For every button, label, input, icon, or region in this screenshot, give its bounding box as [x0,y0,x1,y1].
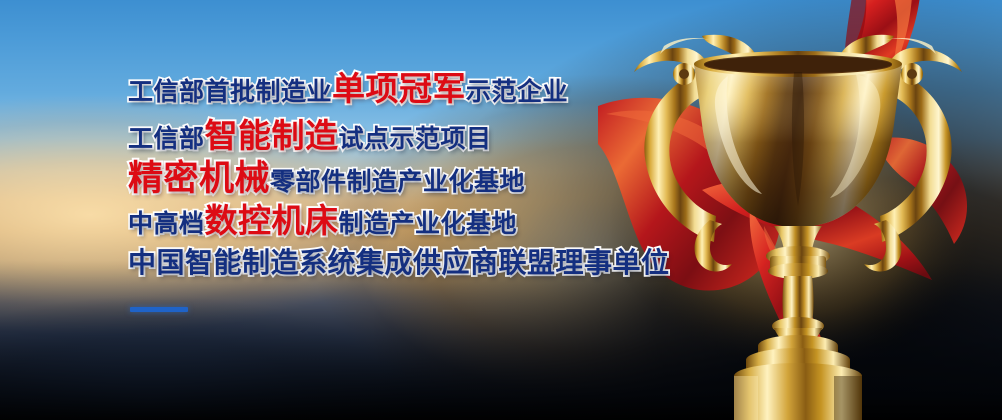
headline-line-2: 工信部智能制造试点示范项目 [128,119,768,152]
headline-3-segment-2: 零部件制造产业化基地 [270,170,525,195]
headline-4-segment-3: 制造产业化基地 [339,212,518,237]
headline-line-5: 中国智能制造系统集成供应商联盟理事单位 [128,249,768,277]
headline-4-segment-2: 数控机床 [205,204,339,237]
headline-line-1: 工信部首批制造业单项冠军示范企业 [128,72,768,105]
headline-2-segment-1: 工信部 [128,127,205,152]
blue-underline-accent [130,307,188,312]
headline-2-segment-3: 试点示范项目 [339,127,492,152]
headline-group: 工信部首批制造业单项冠军示范企业 工信部智能制造试点示范项目 精密机械零部件制造… [128,72,768,277]
headline-2-segment-2: 智能制造 [205,119,339,152]
headline-5-segment-1: 中国智能制造系统集成供应商联盟理事单位 [128,249,670,277]
headline-1-segment-2: 单项冠军 [332,72,466,105]
promo-banner: 工信部首批制造业单项冠军示范企业 工信部智能制造试点示范项目 精密机械零部件制造… [0,0,1002,420]
headline-line-3: 精密机械零部件制造产业化基地 [128,161,768,196]
headline-1-segment-1: 工信部首批制造业 [128,80,332,105]
headline-4-segment-1: 中高档 [128,212,205,237]
headline-1-segment-3: 示范企业 [466,80,568,105]
headline-line-4: 中高档数控机床制造产业化基地 [128,204,768,237]
headline-3-segment-1: 精密机械 [128,161,270,196]
